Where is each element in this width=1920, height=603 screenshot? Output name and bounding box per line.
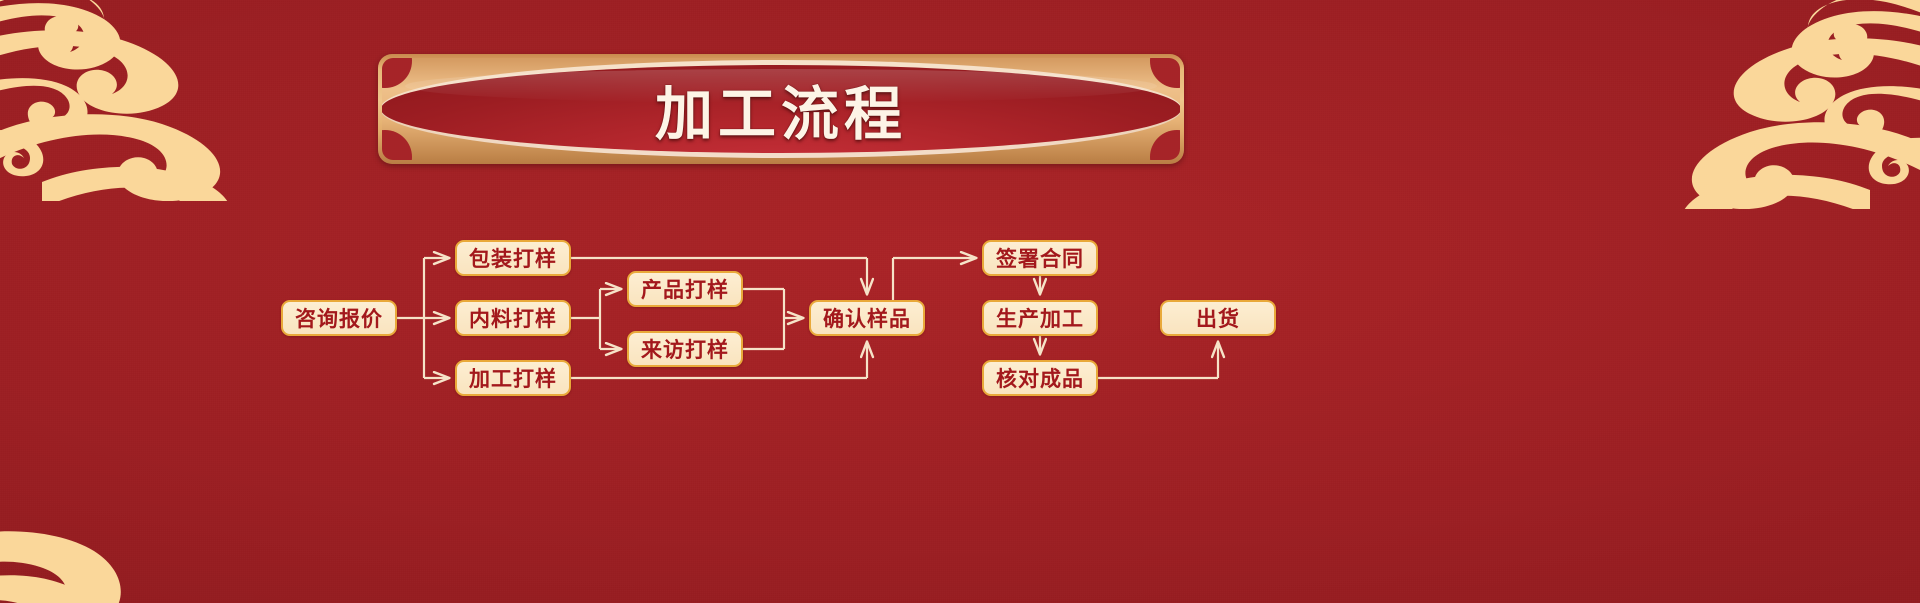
flow-node-n5[interactable]: 产品打样 bbox=[627, 271, 743, 307]
flow-node-n9[interactable]: 生产加工 bbox=[982, 300, 1098, 336]
flow-node-n3[interactable]: 内料打样 bbox=[455, 300, 571, 336]
flow-node-n4[interactable]: 加工打样 bbox=[455, 360, 571, 396]
flow-node-n1[interactable]: 咨询报价 bbox=[281, 300, 397, 336]
flow-node-n7[interactable]: 确认样品 bbox=[809, 300, 925, 336]
flow-node-n2[interactable]: 包装打样 bbox=[455, 240, 571, 276]
flow-node-n11[interactable]: 出货 bbox=[1160, 300, 1276, 336]
flow-node-n10[interactable]: 核对成品 bbox=[982, 360, 1098, 396]
flow-node-n8[interactable]: 签署合同 bbox=[982, 240, 1098, 276]
process-flowchart: 咨询报价 包装打样 内料打样 加工打样 产品打样 来访打样 确认样品 签署合同 … bbox=[0, 0, 1920, 603]
flow-node-n6[interactable]: 来访打样 bbox=[627, 331, 743, 367]
